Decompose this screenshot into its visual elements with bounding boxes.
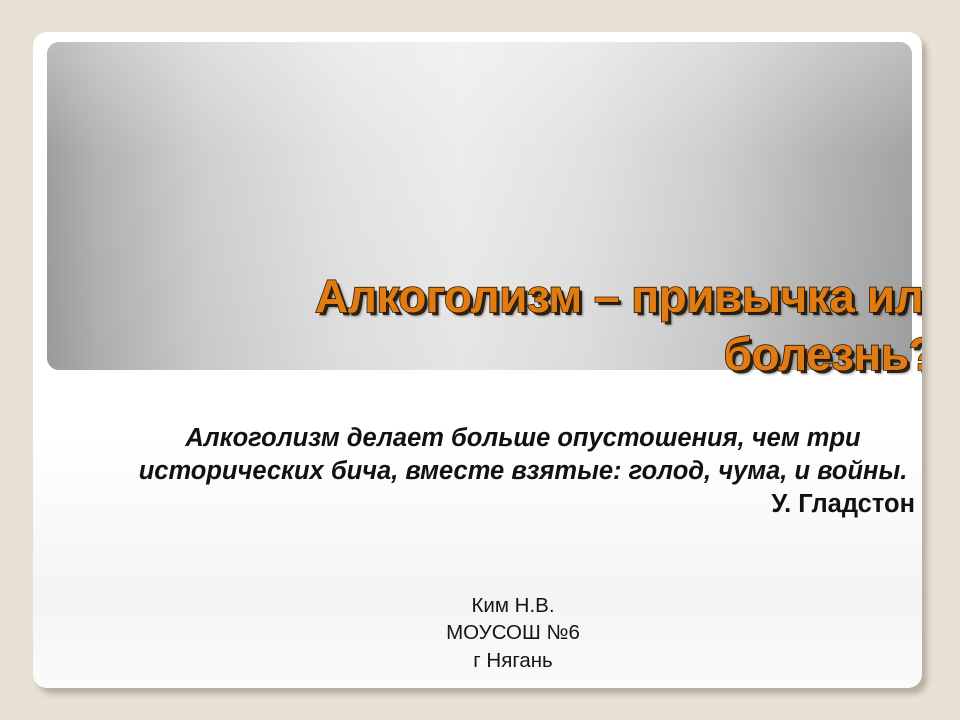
slide-title: Алкоголизм – привычка или болезнь?! [73, 268, 922, 384]
quotation-author: У. Гладстон [105, 488, 922, 521]
school-name: МОУСОШ №6 [93, 619, 922, 646]
city-name: г Нягань [93, 647, 922, 674]
author-name: Ким Н.В. [93, 592, 922, 619]
quotation-text: Алкоголизм делает больше опустошения, че… [105, 422, 922, 488]
quotation-block: Алкоголизм делает больше опустошения, че… [105, 422, 922, 521]
presentation-slide-card: Алкоголизм – привычка или болезнь?! Алко… [33, 32, 922, 688]
author-credit-block: Ким Н.В. МОУСОШ №6 г Нягань [93, 592, 922, 674]
